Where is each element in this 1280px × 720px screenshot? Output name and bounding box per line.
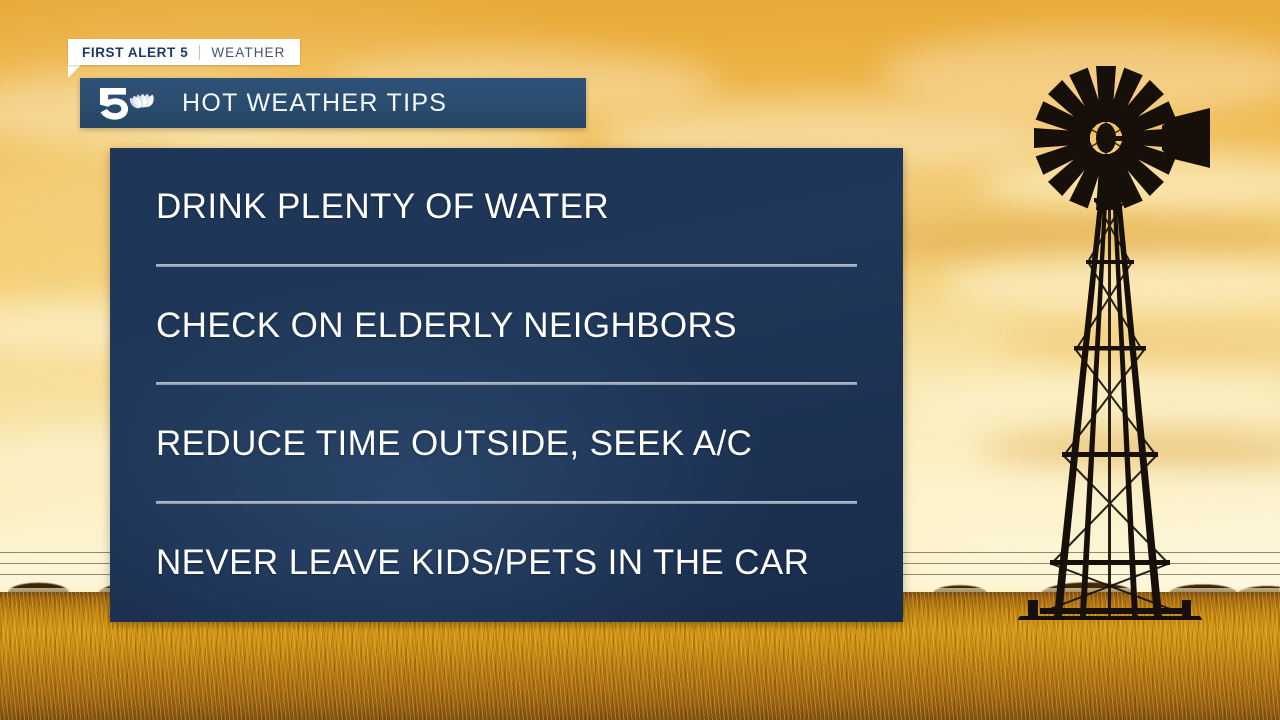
channel-5-peacock-logo-icon [96,86,166,120]
tip-row: CHECK ON ELDERLY NEIGHBORS [156,267,857,386]
tip-row: NEVER LEAVE KIDS/PETS IN THE CAR [156,504,857,623]
brand-tab-tail-icon [68,65,81,78]
windmill-silhouette-icon [1010,60,1240,620]
weather-graphic-stage: FIRST ALERT 5 WEATHER HOT WEATHER TIPS [0,0,1280,720]
tip-row: DRINK PLENTY OF WATER [156,148,857,267]
tip-label: NEVER LEAVE KIDS/PETS IN THE CAR [156,543,809,583]
tip-row: REDUCE TIME OUTSIDE, SEEK A/C [156,385,857,504]
page-title: HOT WEATHER TIPS [182,89,447,118]
brand-tab-divider [199,45,200,60]
brand-weather-label: WEATHER [211,45,285,60]
hot-weather-tips-panel: DRINK PLENTY OF WATER CHECK ON ELDERLY N… [110,148,903,622]
title-bar: HOT WEATHER TIPS [80,78,586,128]
brand-tab: FIRST ALERT 5 WEATHER [68,39,300,65]
tip-label: DRINK PLENTY OF WATER [156,187,609,227]
brand-first-alert-label: FIRST ALERT 5 [82,45,188,60]
tip-label: CHECK ON ELDERLY NEIGHBORS [156,306,737,346]
tip-label: REDUCE TIME OUTSIDE, SEEK A/C [156,424,752,464]
